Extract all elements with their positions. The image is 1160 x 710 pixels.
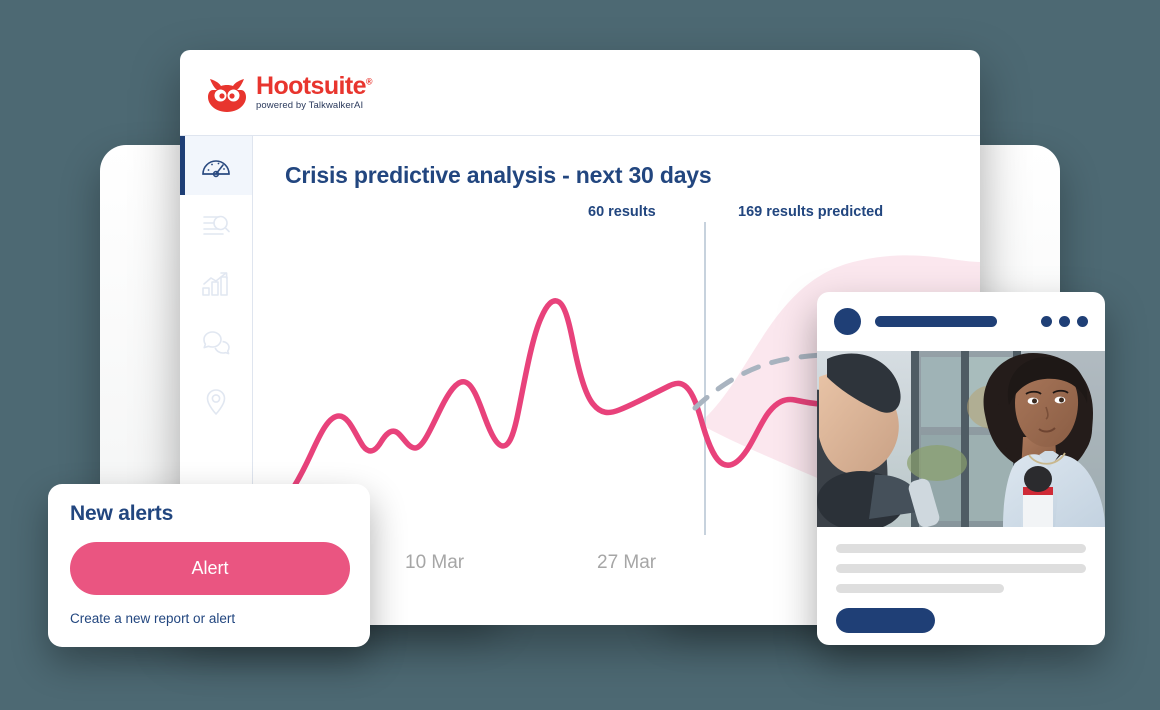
logo-tagline: powered by TalkwalkerAI [256, 100, 372, 111]
post-photo[interactable] [817, 351, 1105, 527]
new-alerts-title: New alerts [70, 502, 348, 526]
owl-icon [207, 77, 247, 113]
hootsuite-logo[interactable]: Hootsuite® powered by TalkwalkerAI [207, 73, 372, 113]
screenshot-stage: Hootsuite® powered by TalkwalkerAI [0, 0, 1160, 710]
sidebar-item-analytics[interactable] [180, 254, 252, 313]
bar-chart-trend-icon [201, 271, 231, 297]
three-dots-menu-icon[interactable] [1041, 316, 1088, 327]
post-header [817, 292, 1105, 351]
new-alerts-card: New alerts Alert Create a new report or … [48, 484, 370, 647]
sidebar-item-locations[interactable] [180, 372, 252, 431]
chat-bubbles-icon [201, 330, 231, 356]
dashboard-gauge-icon [201, 154, 231, 178]
post-action-button[interactable] [836, 608, 935, 633]
sidebar-item-conversations[interactable] [180, 313, 252, 372]
avatar[interactable] [834, 308, 861, 335]
post-author-placeholder [875, 316, 997, 327]
alert-button[interactable]: Alert [70, 542, 350, 595]
sidebar-item-search[interactable] [180, 195, 252, 254]
location-pin-icon [201, 388, 231, 416]
app-header: Hootsuite® powered by TalkwalkerAI [180, 50, 980, 136]
post-body [817, 527, 1105, 638]
text-placeholder-line-1 [836, 544, 1086, 553]
logo-wordmark: Hootsuite® [256, 73, 372, 99]
predicted-results-label: 169 results predicted [738, 204, 883, 220]
actual-results-label: 60 results [588, 204, 656, 220]
create-report-or-alert-link[interactable]: Create a new report or alert [70, 611, 348, 626]
search-list-icon [201, 212, 231, 238]
social-post-card [817, 292, 1105, 645]
registered-mark: ® [366, 76, 372, 86]
text-placeholder-line-2 [836, 564, 1086, 573]
page-title: Crisis predictive analysis - next 30 day… [285, 162, 980, 189]
text-placeholder-line-3 [836, 584, 1004, 593]
sidebar-item-dashboard[interactable] [180, 136, 252, 195]
